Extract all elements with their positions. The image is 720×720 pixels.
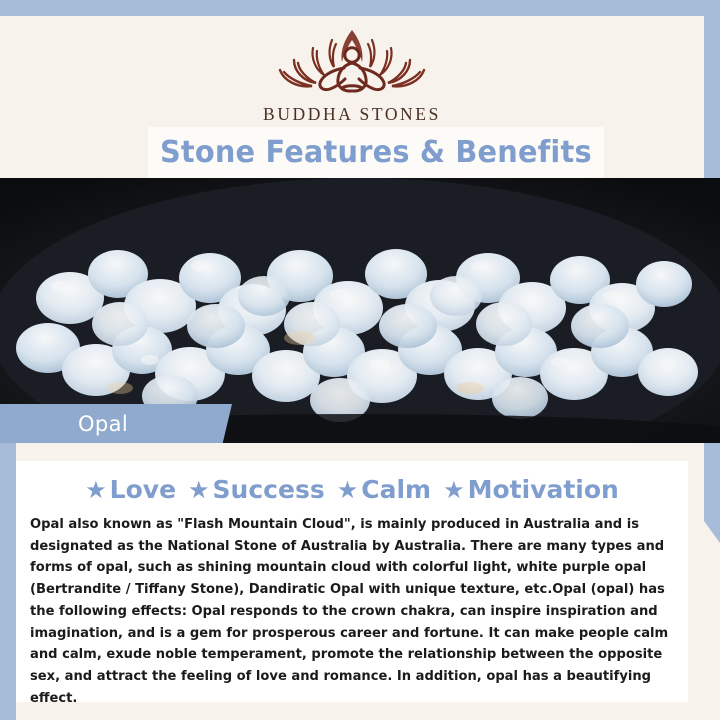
stone-features-infographic: BUDDHA STONES Stone Features & Benefits (0, 0, 720, 720)
page-title: Stone Features & Benefits (160, 135, 592, 170)
keyword-calm: ★ Calm (337, 475, 431, 504)
lotus-meditation-icon (266, 24, 438, 98)
star-icon: ★ (337, 478, 359, 502)
keyword-label: Love (110, 475, 176, 504)
brand-name: BUDDHA STONES (263, 104, 441, 125)
frame-right-top-border (704, 0, 720, 178)
star-icon: ★ (443, 478, 465, 502)
keyword-label: Motivation (468, 475, 619, 504)
keyword-label: Success (213, 475, 325, 504)
benefit-keywords: ★ Love ★ Success ★ Calm ★ Motivation (16, 461, 688, 504)
frame-left-bottom-border (0, 443, 16, 720)
stone-name-label: Opal (78, 412, 128, 436)
frame-top-border (0, 0, 720, 16)
keyword-label: Calm (361, 475, 431, 504)
keyword-motivation: ★ Motivation (443, 475, 619, 504)
section-title-band: Stone Features & Benefits (148, 127, 604, 178)
stone-photo (0, 178, 720, 443)
stone-description-text: Opal also known as "Flash Mountain Cloud… (30, 514, 674, 710)
opalite-stones-illustration (0, 178, 720, 443)
keyword-love: ★ Love (85, 475, 176, 504)
frame-right-bottom-border (704, 443, 720, 543)
star-icon: ★ (85, 478, 107, 502)
keyword-success: ★ Success (188, 475, 325, 504)
stone-name-ribbon: Opal (0, 404, 232, 443)
description-panel: ★ Love ★ Success ★ Calm ★ Motivation Opa… (16, 443, 704, 720)
description-card: ★ Love ★ Success ★ Calm ★ Motivation Opa… (16, 461, 688, 702)
brand-logo: BUDDHA STONES (0, 24, 704, 125)
star-icon: ★ (188, 478, 210, 502)
